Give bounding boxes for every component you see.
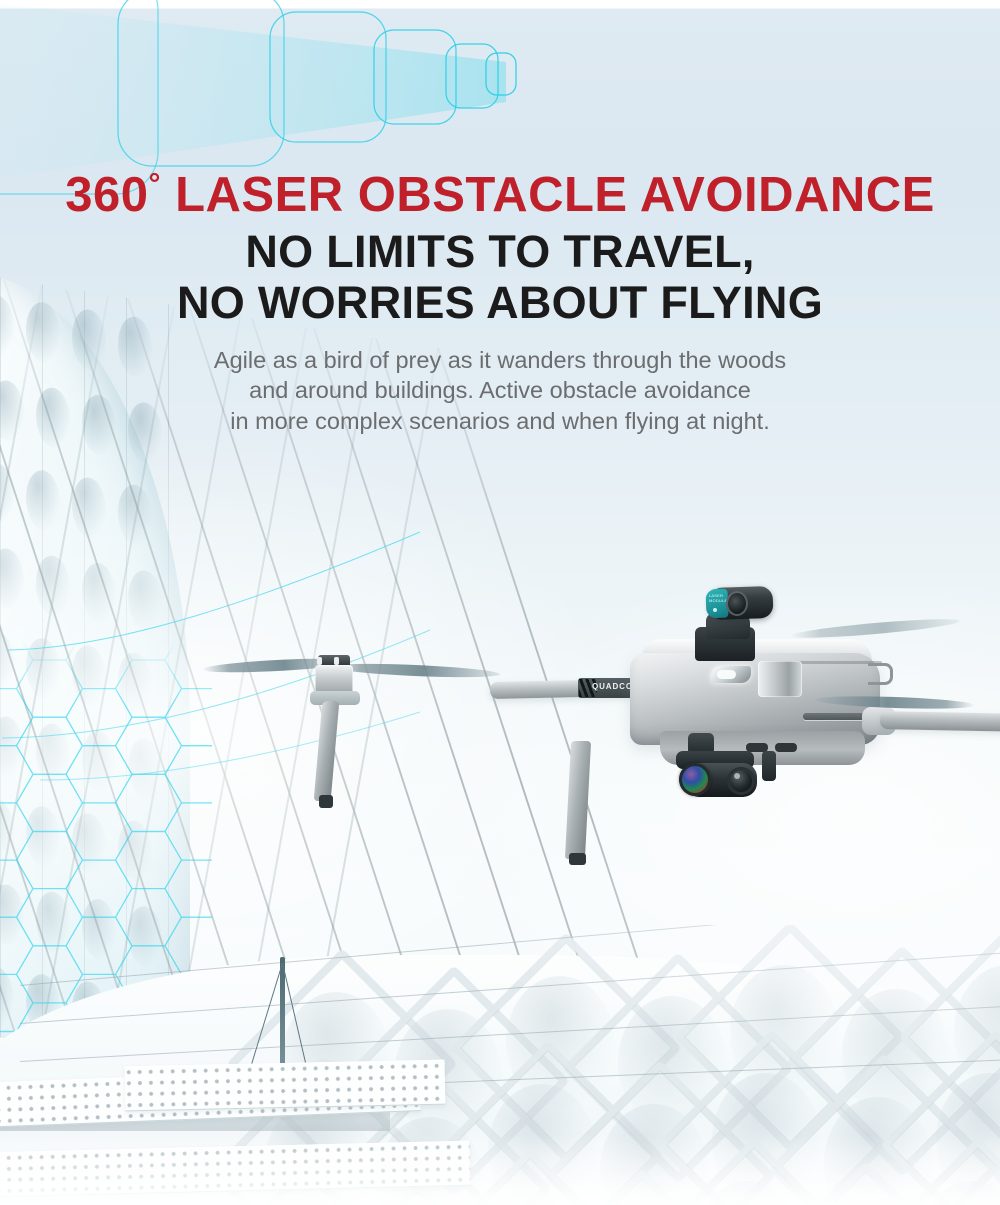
status-led-right xyxy=(775,743,797,752)
propeller-left-front xyxy=(330,661,500,679)
motor-vent-b xyxy=(334,657,339,665)
laser-sensor-label: LASER MODULE xyxy=(709,593,726,603)
quadcopter-drone: QUADCOPTER LASER MODULE xyxy=(190,565,980,865)
laser-emitter-dot-icon xyxy=(713,608,717,612)
gimbal-post xyxy=(762,751,776,781)
subtitle-line-1: NO LIMITS TO TRAVEL, xyxy=(245,226,754,277)
headline-laser-obstacle-avoidance: LASER OBSTACLE AVOIDANCE xyxy=(161,168,935,222)
subtitle-line-2: NO WORRIES ABOUT FLYING xyxy=(177,277,823,328)
propeller-rear-top xyxy=(790,616,960,642)
degree-symbol: ° xyxy=(148,168,161,201)
laser-sensor-lens xyxy=(726,591,748,616)
center-pillar xyxy=(758,661,802,697)
headline-360: 360 xyxy=(65,168,148,222)
description-line-2: and around buildings. Active obstacle av… xyxy=(249,377,751,403)
page-subtitle: NO LIMITS TO TRAVEL, NO WORRIES ABOUT FL… xyxy=(0,227,1000,329)
page-title-red: 360° LASER OBSTACLE AVOIDANCE xyxy=(0,170,1000,221)
body-vent-slot xyxy=(803,713,869,720)
description-line-3: in more complex scenarios and when flyin… xyxy=(230,408,769,434)
landing-foot-left xyxy=(319,795,333,808)
description-text: Agile as a bird of prey as it wanders th… xyxy=(0,345,1000,437)
copy-block: 360° LASER OBSTACLE AVOIDANCE NO LIMITS … xyxy=(0,170,1000,436)
bottom-fade xyxy=(0,1135,1000,1205)
landing-foot-center xyxy=(569,853,586,865)
body-hook-detail xyxy=(868,663,893,685)
perforated-railing-mid xyxy=(125,1060,446,1112)
secondary-camera-lens xyxy=(727,767,755,795)
landing-leg-left xyxy=(314,701,340,801)
motor-vent-a xyxy=(317,657,322,665)
arm-right xyxy=(880,711,1000,733)
landing-leg-center xyxy=(565,741,591,859)
product-banner: 360° LASER OBSTACLE AVOIDANCE NO LIMITS … xyxy=(0,0,1000,1205)
main-camera-lens xyxy=(679,763,711,796)
description-line-1: Agile as a bird of prey as it wanders th… xyxy=(214,347,786,373)
nose-light-lens xyxy=(717,670,736,679)
